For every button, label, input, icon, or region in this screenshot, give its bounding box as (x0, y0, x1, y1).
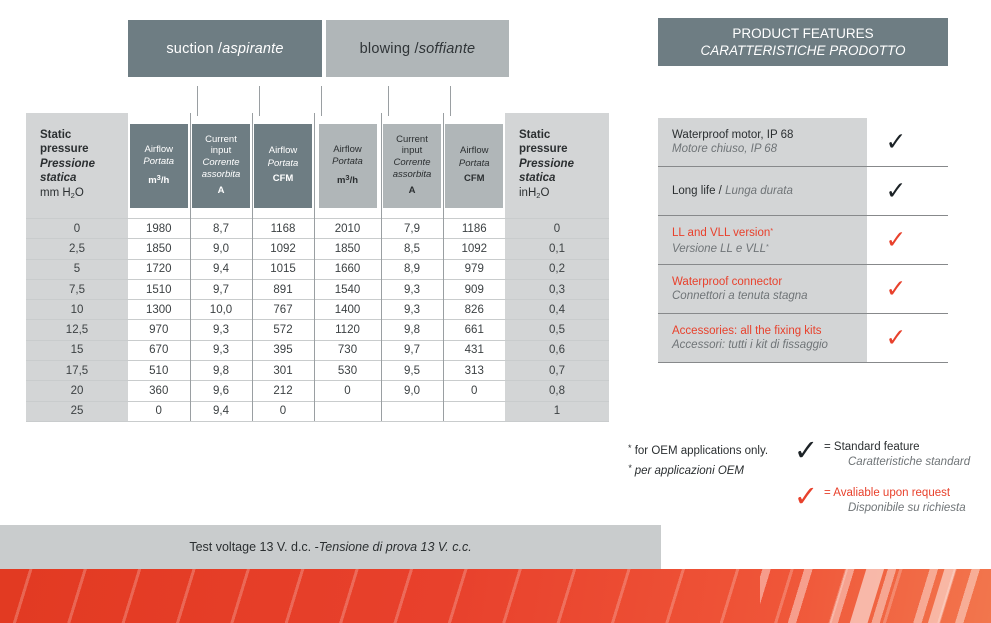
feature-label-en: Long life / Lunga durata (672, 184, 850, 199)
cell-suction-airflow-cfm: 1015 (252, 259, 314, 279)
feature-text: LL and VLL version*Versione LL e VLL* (658, 218, 850, 263)
cell-blowing-airflow-cfm (443, 401, 505, 421)
check-red-icon: ✓ (788, 484, 824, 510)
suction-mode-banner: suction / aspirante (128, 20, 322, 77)
table-row: 17,55109,83015309,53130,7 (26, 361, 609, 381)
feature-label-en: LL and VLL version* (672, 224, 850, 241)
cell-blowing-current-a: 9,5 (381, 361, 443, 381)
feature-row: Waterproof motor, IP 68Motore chiuso, IP… (658, 118, 948, 167)
features-title-en: PRODUCT FEATURES (732, 25, 873, 42)
legend-label-en: = Avaliable upon request (824, 486, 966, 501)
cell-blowing-airflow-cfm: 826 (443, 300, 505, 320)
cell-blowing-current-a: 9,7 (381, 340, 443, 360)
cell-static-pressure-inh2o: 1 (505, 401, 609, 421)
table-row: 019808,7116820107,911860 (26, 219, 609, 239)
sp-l2: pressure (519, 142, 609, 157)
table-row: 10130010,076714009,38260,4 (26, 300, 609, 320)
legend-label-it: Caratteristiche standard (824, 455, 970, 470)
hdr-unit: CFM (464, 173, 485, 186)
cell-blowing-current-a: 9,3 (381, 300, 443, 320)
cell-blowing-airflow-cfm: 661 (443, 320, 505, 340)
cell-static-pressure-inh2o: 0 (505, 219, 609, 239)
cell-blowing-airflow-cfm: 313 (443, 361, 505, 381)
feature-label-it: Motore chiuso, IP 68 (672, 142, 850, 157)
blowing-mode-banner: blowing / soffiante (326, 20, 509, 77)
cell-blowing-current-a: 8,9 (381, 259, 443, 279)
cell-blowing-current-a: 8,5 (381, 239, 443, 259)
check-black-icon: ✓ (850, 179, 948, 204)
cell-static-pressure-mm: 12,5 (26, 320, 128, 340)
cell-suction-airflow-m3h: 1980 (128, 219, 190, 239)
cell-suction-airflow-cfm: 767 (252, 300, 314, 320)
hdr-unit: A (409, 185, 416, 198)
check-red-icon: ✓ (850, 326, 948, 351)
table-row: 12,59709,357211209,86610,5 (26, 320, 609, 340)
cell-blowing-airflow-cfm: 0 (443, 381, 505, 401)
hdr-line-en-1: Current (396, 134, 428, 146)
legend-label-it: Disponibile su richiesta (824, 501, 966, 516)
cell-suction-airflow-m3h: 1510 (128, 279, 190, 299)
feature-label-en: Waterproof motor, IP 68 (672, 128, 850, 143)
sp-l4: statica (519, 171, 609, 186)
hdr-unit: A (218, 185, 225, 198)
feature-text: Long life / Lunga durata (658, 178, 850, 205)
table-row: 517209,4101516608,99790,2 (26, 259, 609, 279)
datasheet-page: suction / aspirante blowing / soffiante … (0, 0, 991, 623)
cell-suction-current-a: 10,0 (190, 300, 252, 320)
cell-blowing-current-a: 9,0 (381, 381, 443, 401)
table-header-row: Static pressure Pressione statica mm H2O… (26, 113, 609, 219)
column-tick-4 (388, 86, 389, 116)
sp-unit: mm H2O (40, 186, 128, 204)
check-red-icon: ✓ (850, 277, 948, 302)
footer-text-it: Tensione di prova 13 V. c.c. (319, 540, 472, 554)
cell-blowing-current-a: 7,9 (381, 219, 443, 239)
cell-suction-current-a: 9,8 (190, 361, 252, 381)
suction-label-it: aspirante (222, 41, 283, 57)
blowing-label-en: blowing / (360, 41, 419, 57)
cell-blowing-airflow-m3h: 0 (314, 381, 381, 401)
cell-static-pressure-inh2o: 0,3 (505, 279, 609, 299)
check-black-icon: ✓ (788, 438, 824, 464)
cell-suction-airflow-m3h: 670 (128, 340, 190, 360)
hdr-line-en: Airflow (460, 145, 489, 158)
cell-static-pressure-inh2o: 0,1 (505, 239, 609, 259)
cell-static-pressure-mm: 2,5 (26, 239, 128, 259)
cell-suction-airflow-cfm: 891 (252, 279, 314, 299)
column-tick-1 (197, 86, 198, 116)
hdr-line-en: Airflow (269, 145, 298, 158)
hdr-line-it: Portata (459, 158, 490, 171)
cell-suction-airflow-m3h: 1720 (128, 259, 190, 279)
feature-row: Accessories: all the fixing kitsAccessor… (658, 314, 948, 363)
sp-l4: statica (40, 171, 128, 186)
footer-text-en: Test voltage 13 V. d.c. - (189, 540, 318, 554)
cell-blowing-airflow-m3h: 1400 (314, 300, 381, 320)
performance-table: Static pressure Pressione statica mm H2O… (26, 113, 609, 422)
sp-l1: Static (40, 128, 128, 143)
hdr-line-en: Airflow (144, 144, 173, 157)
hdr-line-it: Portata (332, 156, 363, 169)
cell-suction-airflow-cfm: 1092 (252, 239, 314, 259)
cell-suction-current-a: 9,0 (190, 239, 252, 259)
checkmark-legend: ✓= Standard featureCaratteristiche stand… (788, 438, 970, 530)
table-row: 2509,401 (26, 401, 609, 421)
cell-suction-current-a: 9,3 (190, 320, 252, 340)
hdr-unit: m3/h (148, 172, 169, 188)
sp-l1: Static (519, 128, 609, 143)
header-blowing-current-a: Current input Corrente assorbita A (381, 113, 443, 219)
hdr-line-en-2: input (402, 145, 423, 157)
cell-static-pressure-inh2o: 0,2 (505, 259, 609, 279)
cell-suction-airflow-m3h: 970 (128, 320, 190, 340)
cell-blowing-current-a: 9,3 (381, 279, 443, 299)
hdr-unit: m3/h (337, 172, 358, 188)
cell-suction-airflow-m3h: 360 (128, 381, 190, 401)
feature-text: Accessories: all the fixing kitsAccessor… (658, 318, 850, 359)
footnote-line-2: * per applicazioni OEM (628, 460, 768, 480)
header-static-pressure-inh2o: Static pressure Pressione statica inH2O (505, 113, 609, 219)
cell-suction-airflow-cfm: 572 (252, 320, 314, 340)
test-voltage-bar: Test voltage 13 V. d.c. - Tensione di pr… (0, 525, 661, 569)
header-suction-current-a: Current input Corrente assorbita A (190, 113, 252, 219)
cell-static-pressure-mm: 10 (26, 300, 128, 320)
cell-suction-current-a: 9,4 (190, 401, 252, 421)
hdr-line-it-1: Corrente (203, 157, 240, 170)
cell-static-pressure-mm: 25 (26, 401, 128, 421)
cell-suction-current-a: 9,6 (190, 381, 252, 401)
cell-suction-airflow-cfm: 395 (252, 340, 314, 360)
check-red-icon: ✓ (850, 228, 948, 253)
cell-blowing-airflow-m3h: 2010 (314, 219, 381, 239)
sp-l2: pressure (40, 142, 128, 157)
cell-blowing-airflow-m3h: 1850 (314, 239, 381, 259)
feature-label-it: Lunga durata (725, 185, 793, 197)
cell-suction-current-a: 9,3 (190, 340, 252, 360)
feature-label-en: Waterproof connector (672, 275, 850, 290)
hdr-line-it: Portata (143, 156, 174, 169)
hdr-line-en-2: input (211, 145, 232, 157)
feature-row: LL and VLL version*Versione LL e VLL*✓ (658, 216, 948, 265)
header-static-pressure-mm: Static pressure Pressione statica mm H2O (26, 113, 128, 219)
cell-blowing-airflow-cfm: 909 (443, 279, 505, 299)
column-tick-2 (259, 86, 260, 116)
feature-text: Waterproof connectorConnettori a tenuta … (658, 269, 850, 310)
cell-blowing-airflow-cfm: 979 (443, 259, 505, 279)
hdr-line-it-2: assorbita (202, 169, 241, 182)
cell-suction-airflow-m3h: 0 (128, 401, 190, 421)
cell-static-pressure-mm: 0 (26, 219, 128, 239)
cell-static-pressure-inh2o: 0,5 (505, 320, 609, 340)
cell-blowing-airflow-m3h: 530 (314, 361, 381, 381)
product-features-list: Waterproof motor, IP 68Motore chiuso, IP… (658, 118, 948, 363)
footnote-line-1: * for OEM applications only. (628, 440, 768, 460)
feature-row: Waterproof connectorConnettori a tenuta … (658, 265, 948, 314)
footnote-block: * for OEM applications only. * per appli… (628, 440, 768, 480)
legend-row: ✓= Standard featureCaratteristiche stand… (788, 438, 970, 470)
feature-label-it: Accessori: tutti i kit di fissaggio (672, 338, 850, 353)
hdr-line-it-2: assorbita (393, 169, 432, 182)
cell-blowing-airflow-m3h: 1540 (314, 279, 381, 299)
cell-blowing-airflow-cfm: 1092 (443, 239, 505, 259)
cell-blowing-current-a: 9,8 (381, 320, 443, 340)
table-row: 203609,621209,000,8 (26, 381, 609, 401)
hdr-line-it: Portata (268, 158, 299, 171)
sp-l3: Pressione (519, 157, 609, 172)
features-title-it: CARATTERISTICHE PRODOTTO (700, 42, 905, 59)
hdr-line-it-1: Corrente (394, 157, 431, 170)
cell-blowing-current-a (381, 401, 443, 421)
cell-blowing-airflow-m3h (314, 401, 381, 421)
cell-static-pressure-inh2o: 0,6 (505, 340, 609, 360)
cell-static-pressure-mm: 7,5 (26, 279, 128, 299)
cell-static-pressure-mm: 20 (26, 381, 128, 401)
cell-static-pressure-mm: 15 (26, 340, 128, 360)
cell-blowing-airflow-m3h: 1120 (314, 320, 381, 340)
suction-label-en: suction / (166, 41, 222, 57)
feature-label-it: Connettori a tenuta stagna (672, 289, 850, 304)
legend-row: ✓= Avaliable upon requestDisponibile su … (788, 484, 970, 516)
hdr-line-en: Airflow (333, 144, 362, 157)
header-suction-airflow-m3h: Airflow Portata m3/h (128, 113, 190, 219)
cell-suction-current-a: 9,4 (190, 259, 252, 279)
table-row: 156709,33957309,74310,6 (26, 340, 609, 360)
cell-suction-airflow-m3h: 1300 (128, 300, 190, 320)
feature-label-en: Accessories: all the fixing kits (672, 324, 850, 339)
column-tick-5 (450, 86, 451, 116)
cell-static-pressure-mm: 5 (26, 259, 128, 279)
legend-text: = Standard featureCaratteristiche standa… (824, 438, 970, 470)
cell-suction-airflow-cfm: 301 (252, 361, 314, 381)
feature-label-it: Versione LL e VLL* (672, 240, 850, 257)
cell-blowing-airflow-m3h: 730 (314, 340, 381, 360)
cell-suction-current-a: 8,7 (190, 219, 252, 239)
header-suction-airflow-cfm: Airflow Portata CFM (252, 113, 314, 219)
legend-text: = Avaliable upon requestDisponibile su r… (824, 484, 966, 516)
table-row: 2,518509,0109218508,510920,1 (26, 239, 609, 259)
legend-label-en: = Standard feature (824, 440, 970, 455)
cell-static-pressure-inh2o: 0,7 (505, 361, 609, 381)
hdr-line-en-1: Current (205, 134, 237, 146)
cell-suction-current-a: 9,7 (190, 279, 252, 299)
hdr-unit: CFM (273, 173, 294, 186)
sp-l3: Pressione (40, 157, 128, 172)
feature-row: Long life / Lunga durata✓ (658, 167, 948, 216)
cell-blowing-airflow-cfm: 1186 (443, 219, 505, 239)
cell-suction-airflow-cfm: 1168 (252, 219, 314, 239)
cell-suction-airflow-m3h: 1850 (128, 239, 190, 259)
header-blowing-airflow-cfm: Airflow Portata CFM (443, 113, 505, 219)
cell-suction-airflow-cfm: 0 (252, 401, 314, 421)
decorative-red-band (0, 569, 991, 623)
cell-suction-airflow-cfm: 212 (252, 381, 314, 401)
feature-text: Waterproof motor, IP 68Motore chiuso, IP… (658, 122, 850, 163)
cell-static-pressure-inh2o: 0,8 (505, 381, 609, 401)
column-tick-3 (321, 86, 322, 116)
cell-static-pressure-mm: 17,5 (26, 361, 128, 381)
product-features-title: PRODUCT FEATURES CARATTERISTICHE PRODOTT… (658, 18, 948, 66)
cell-blowing-airflow-cfm: 431 (443, 340, 505, 360)
sp-unit: inH2O (519, 186, 609, 204)
check-black-icon: ✓ (850, 130, 948, 155)
blowing-label-it: soffiante (419, 41, 476, 57)
cell-blowing-airflow-m3h: 1660 (314, 259, 381, 279)
cell-static-pressure-inh2o: 0,4 (505, 300, 609, 320)
header-blowing-airflow-m3h: Airflow Portata m3/h (314, 113, 381, 219)
table-row: 7,515109,789115409,39090,3 (26, 279, 609, 299)
cell-suction-airflow-m3h: 510 (128, 361, 190, 381)
